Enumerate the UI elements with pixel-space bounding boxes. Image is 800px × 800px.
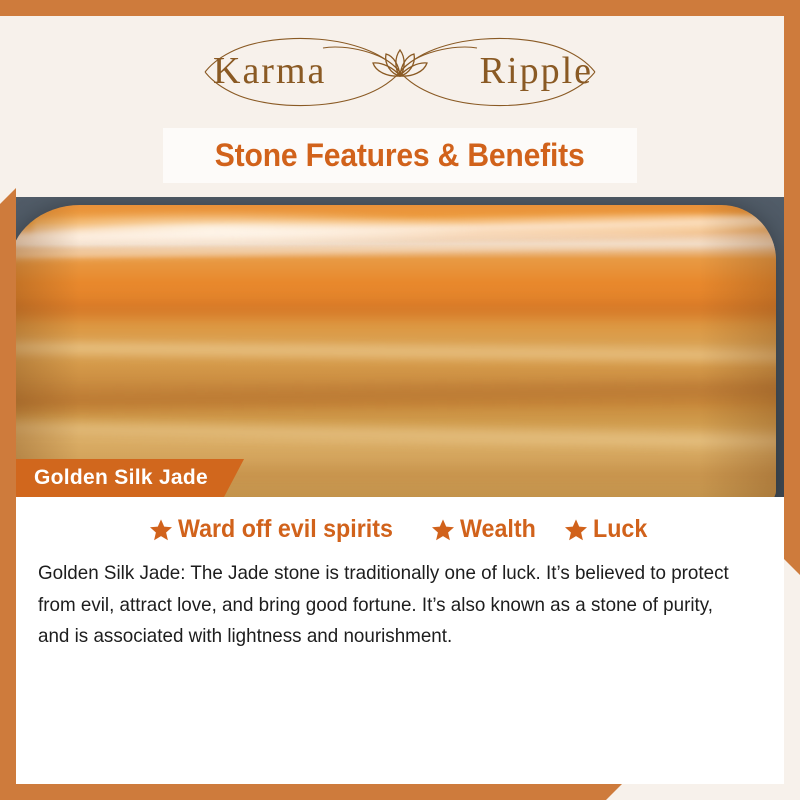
- frame-band-right: [784, 0, 800, 575]
- stone-band: [16, 373, 776, 418]
- stone-name-label: Golden Silk Jade: [34, 466, 208, 490]
- golden-silk-jade-stone: [16, 205, 776, 497]
- frame-band-left: [0, 188, 16, 800]
- stone-photo: Golden Silk Jade: [16, 197, 784, 497]
- benefit-item: Wealth: [431, 515, 542, 544]
- stone-edge-right: [699, 205, 776, 497]
- benefit-label: Luck: [593, 515, 647, 544]
- title-banner: Stone Features & Benefits: [163, 128, 637, 183]
- stone-band: [16, 414, 776, 456]
- benefit-item: Luck: [564, 515, 651, 544]
- star-icon: [149, 518, 173, 542]
- stone-highlight: [33, 211, 493, 247]
- benefit-label: Ward off evil spirits: [178, 515, 393, 544]
- content-area: Ward off evil spirits Wealth Luck Golden…: [16, 497, 784, 784]
- header: Karma Ripple: [16, 16, 784, 126]
- page-title: Stone Features & Benefits: [215, 137, 585, 174]
- star-icon: [431, 518, 455, 542]
- brand-name-left: Karma: [213, 49, 326, 93]
- stone-description: Golden Silk Jade: The Jade stone is trad…: [38, 558, 737, 653]
- star-icon: [564, 518, 588, 542]
- frame-band-bottom: [0, 784, 622, 800]
- brand-logo: Karma Ripple: [185, 30, 615, 114]
- frame-band-top: [0, 0, 800, 16]
- benefit-item: Ward off evil spirits: [149, 515, 409, 544]
- infographic-page: Karma Ripple Stone Features & Benefits G…: [0, 0, 800, 800]
- benefit-label: Wealth: [460, 515, 536, 544]
- stone-band: [16, 336, 776, 369]
- stone-name-badge: Golden Silk Jade: [16, 459, 244, 497]
- brand-name-right: Ripple: [480, 49, 593, 93]
- stone-band: [16, 295, 776, 325]
- benefits-list: Ward off evil spirits Wealth Luck: [16, 497, 784, 544]
- stone-edge-left: [16, 205, 79, 497]
